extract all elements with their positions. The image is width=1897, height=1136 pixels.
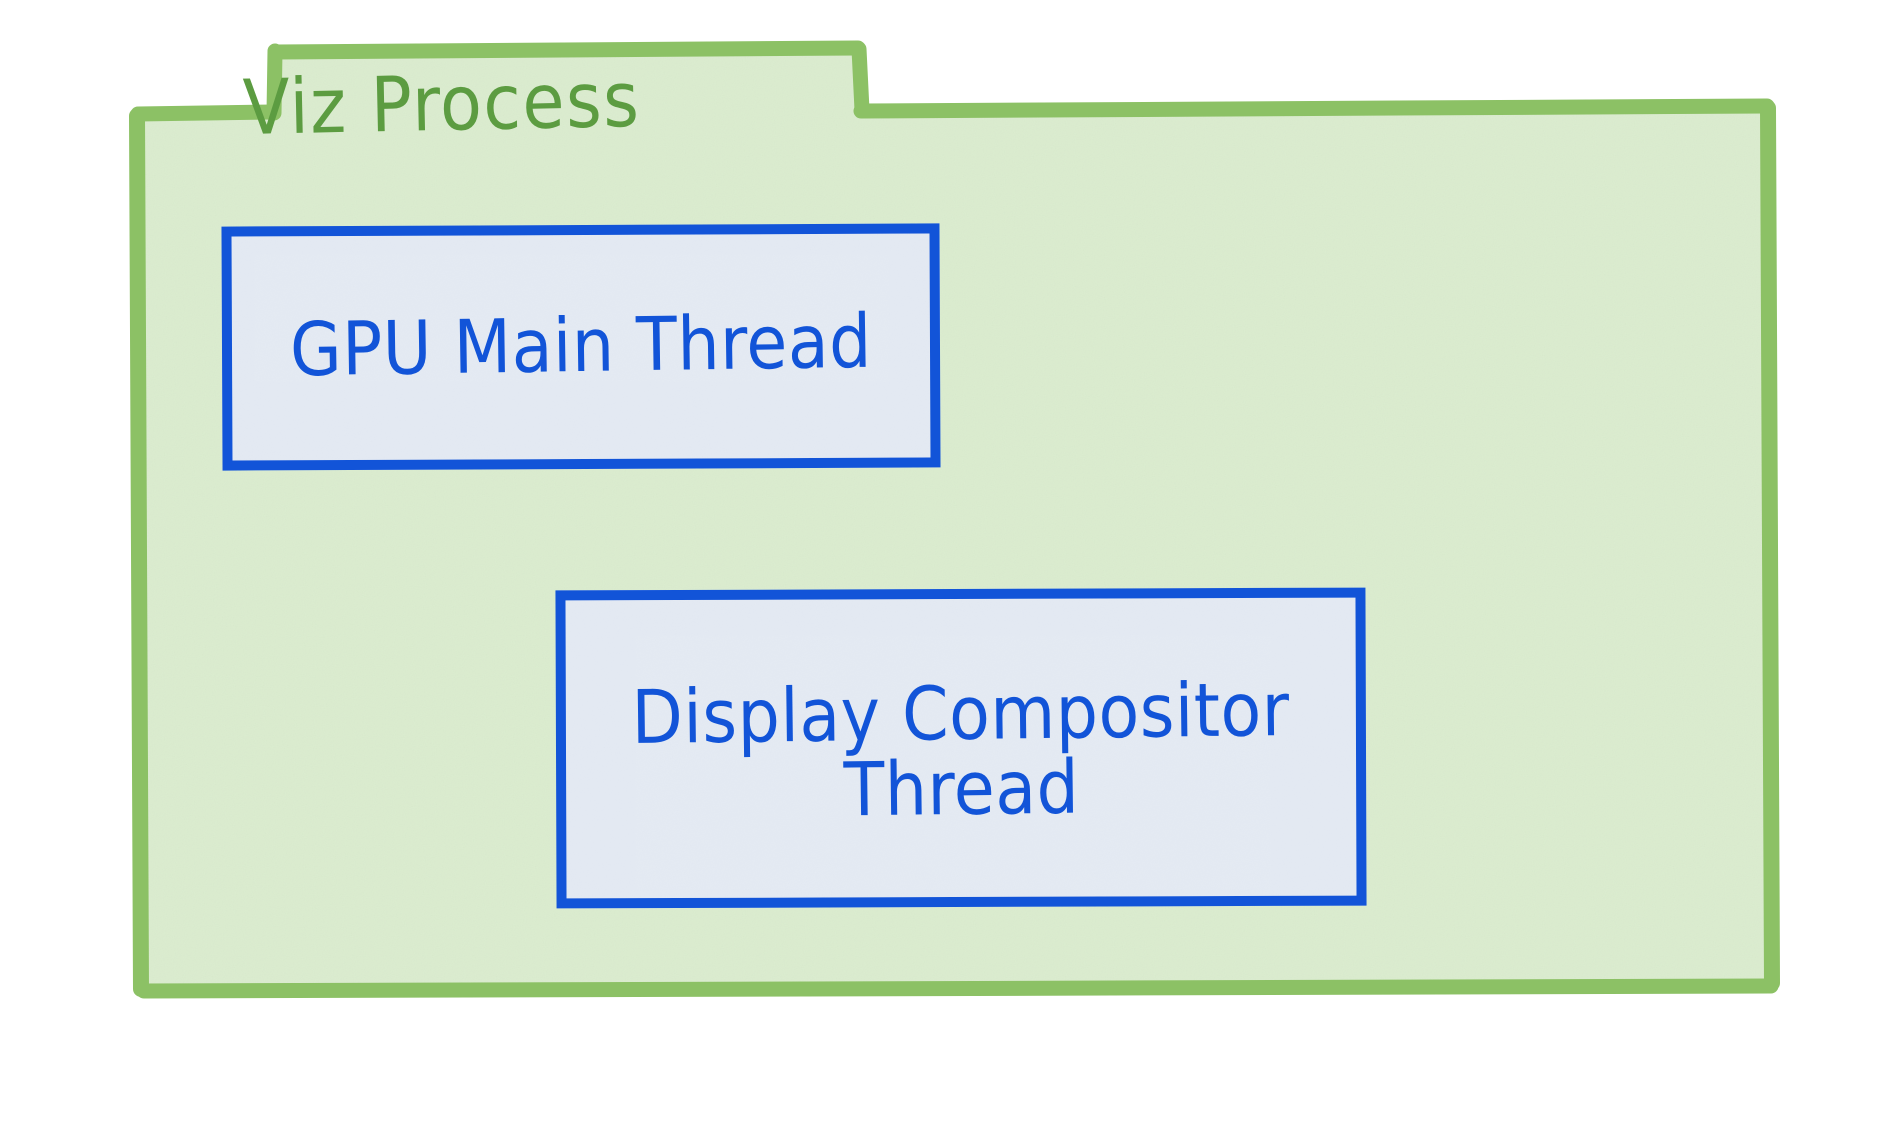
display-compositor-thread-label: Display Compositor Thread xyxy=(631,673,1291,832)
display-compositor-thread-box[interactable]: Display Compositor Thread xyxy=(555,588,1366,909)
gpu-main-thread-label: GPU Main Thread xyxy=(290,305,873,389)
diagram-canvas: Viz Process GPU Main Thread Display Comp… xyxy=(0,0,1897,1136)
process-title: Viz Process xyxy=(242,62,641,146)
gpu-main-thread-box[interactable]: GPU Main Thread xyxy=(221,223,940,470)
